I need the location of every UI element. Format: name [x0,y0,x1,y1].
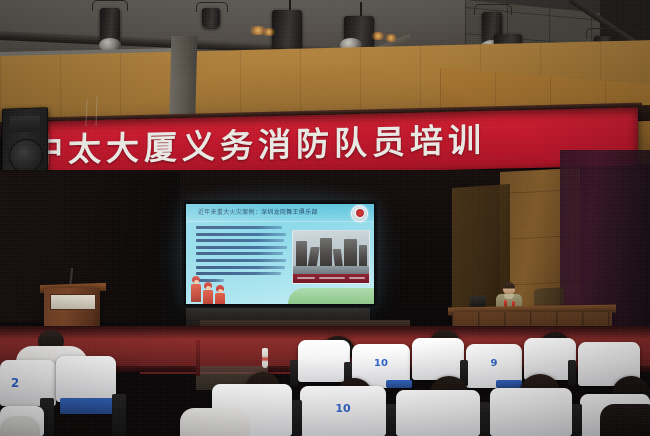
slide-text-line [196,272,281,275]
speaker-woofer [9,138,43,173]
audience-seat[interactable] [56,356,116,402]
audience-shoulders [180,408,250,436]
projection-screen: 近年来重大火灾案例：深圳龙岗舞王俱乐部 [182,200,378,308]
seat-armrest [386,404,396,436]
seat-number: 9 [466,358,522,369]
audience-seat[interactable]: 10 [300,386,386,436]
audience-seat[interactable] [412,338,464,380]
photo-ground [293,266,369,274]
burnt-building [296,241,307,269]
slide-title-text: 近年来重大火灾案例：深圳龙岗舞王俱乐部 [198,206,348,219]
lamp-glow [262,28,276,36]
seat-armrest [112,394,126,436]
auditorium-photo: 中太大厦义务消防队员培训 近年来重大火灾案例：深圳龙岗舞王俱乐部 [0,0,650,436]
audience-shoulders [600,404,650,436]
seat-base [60,398,116,414]
seat-base [386,380,412,388]
audience-seat[interactable] [298,340,350,382]
seat-armrest [572,404,582,436]
slide-fire-photo [292,230,370,284]
burnt-building [320,238,332,269]
podium-name-panel [50,294,96,310]
slide-text-line [196,239,284,242]
water-bottle [262,348,268,368]
presentation-slide: 近年来重大火灾案例：深圳龙岗舞王俱乐部 [186,204,374,304]
slide-text-block [196,226,288,288]
photo-caption-bar [293,274,369,283]
slide-text-line [196,246,287,249]
slide-text-line [196,226,282,229]
seat-number: 10 [300,402,386,415]
stage-rail [196,340,200,376]
slide-text-line [196,252,283,255]
audience-seat[interactable] [396,390,480,436]
audience-shoulders [0,416,40,436]
seat-base [496,380,522,388]
fire-service-badge-icon [351,205,368,222]
seat-armrest [568,360,576,386]
seat-armrest [292,400,302,436]
audience-seat[interactable] [490,388,572,436]
slide-text-line [196,266,285,269]
slide-text-line [196,259,286,262]
seat-armrest [290,360,298,386]
seat-number: 10 [352,358,410,369]
slide-hill-graphic [288,288,374,304]
seat-armrest [480,402,490,436]
firefighter-illustration [190,276,202,302]
speaker-port [10,115,40,132]
slide-text-line [196,233,286,236]
firefighter-illustration [214,285,226,304]
lamp-glow [384,34,398,42]
firefighter-illustration [202,282,214,304]
burnt-building [344,239,357,269]
seat-number: 2 [0,376,56,390]
